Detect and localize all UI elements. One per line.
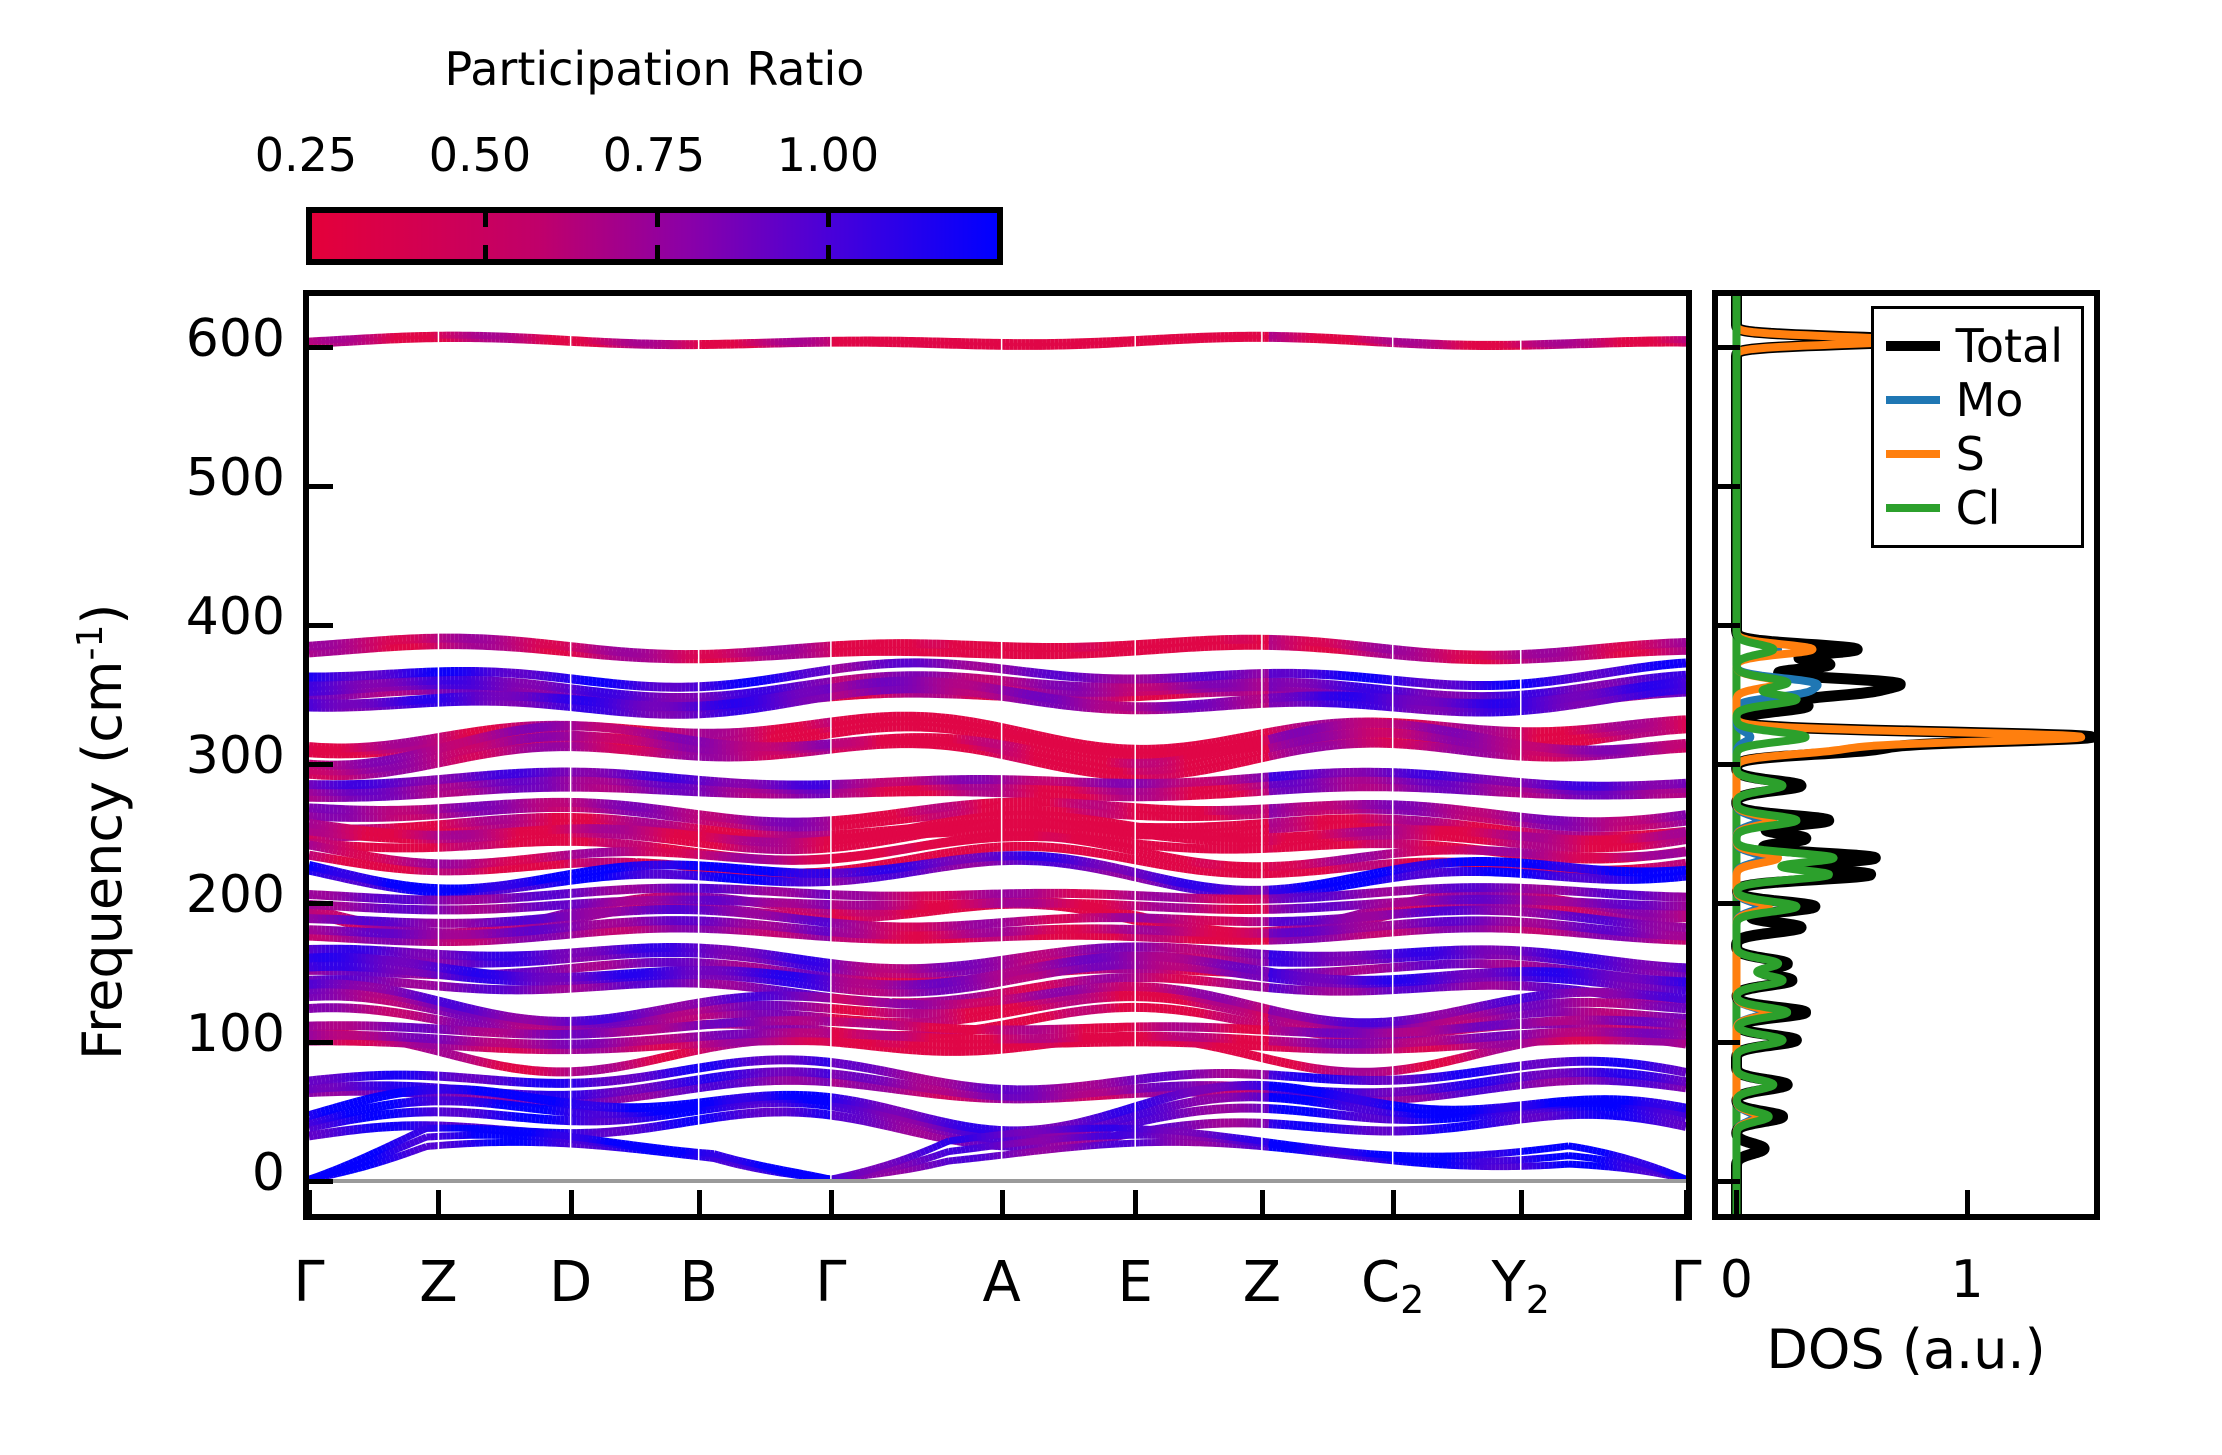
band-segment xyxy=(422,759,426,760)
band-segment xyxy=(463,750,467,751)
band-segment xyxy=(803,700,807,701)
band-segment xyxy=(803,685,807,686)
band-segment xyxy=(1565,698,1569,699)
band-segment xyxy=(783,741,787,742)
band-segment xyxy=(1556,706,1560,707)
band-segment xyxy=(402,743,406,744)
band-segment xyxy=(844,693,848,694)
band-segment xyxy=(989,694,993,695)
band-segment xyxy=(763,691,767,692)
band-segment xyxy=(1285,752,1289,753)
band-segment xyxy=(459,750,463,751)
band-segment xyxy=(576,689,580,690)
band-segment xyxy=(795,675,799,676)
band-segment xyxy=(1066,701,1070,702)
band-segment xyxy=(1593,740,1597,741)
band-segment xyxy=(1253,735,1257,736)
band-segment xyxy=(1625,681,1629,682)
band-segment xyxy=(1026,733,1030,734)
band-segment xyxy=(1577,704,1581,705)
band-segment xyxy=(1609,672,1613,673)
band-segment xyxy=(499,742,503,743)
band-segment xyxy=(378,767,382,768)
band-segment xyxy=(1617,697,1621,698)
band-segment xyxy=(1079,744,1083,745)
band-segment xyxy=(1196,745,1200,746)
band-segment xyxy=(1224,765,1228,766)
band-curves xyxy=(309,296,1686,1214)
band-segment xyxy=(1621,735,1625,736)
band-segment xyxy=(840,686,844,687)
band-segment xyxy=(1006,728,1010,729)
colorbar-tick-label-2: 0.75 xyxy=(564,128,744,182)
band-segment xyxy=(418,760,422,761)
band-segment xyxy=(844,725,848,726)
band-segment xyxy=(1633,695,1637,696)
band-segment xyxy=(965,721,969,722)
band-segment xyxy=(1281,753,1285,754)
band-segment xyxy=(969,731,973,732)
band-segment xyxy=(1605,732,1609,733)
band-segment xyxy=(1641,679,1645,680)
band-segment xyxy=(1265,732,1269,733)
band-segment xyxy=(815,724,819,725)
band-segment xyxy=(1022,699,1026,700)
band-segment xyxy=(977,723,981,724)
band-segment xyxy=(556,692,560,693)
band-segment xyxy=(1245,736,1249,737)
band-segment xyxy=(1091,767,1095,768)
band-segment xyxy=(1014,730,1018,731)
band-segment xyxy=(969,685,973,686)
band-segment xyxy=(1641,693,1645,694)
band-segment xyxy=(1613,691,1617,692)
band-segment xyxy=(1208,768,1212,769)
band-segment xyxy=(1601,732,1605,733)
band-segment xyxy=(394,765,398,766)
band-segment xyxy=(1569,697,1573,698)
band-segment xyxy=(1585,676,1589,677)
band-segment xyxy=(1313,747,1317,748)
colorbar-tick-top-1 xyxy=(655,213,660,227)
band-segment xyxy=(1006,691,1010,692)
colorbar-tick-bottom-0 xyxy=(483,245,488,259)
band-segment xyxy=(844,686,848,687)
band-segment xyxy=(479,754,483,755)
band-segment xyxy=(755,681,759,682)
band-structure-axes xyxy=(303,290,1692,1220)
band-segment xyxy=(410,762,414,763)
band-segment xyxy=(1577,696,1581,697)
band-segment xyxy=(819,671,823,672)
band-segment xyxy=(795,726,799,727)
band-segment xyxy=(763,707,767,708)
band-segment xyxy=(1034,696,1038,697)
band-segment xyxy=(1650,685,1654,686)
band-segment xyxy=(803,737,807,738)
band-segment xyxy=(1070,769,1074,770)
band-segment xyxy=(799,726,803,727)
band-segment xyxy=(799,700,803,701)
band-segment xyxy=(787,740,791,741)
y-axis-label-text: Frequency (cm xyxy=(71,661,134,1061)
band-segment xyxy=(455,751,459,752)
band-segment xyxy=(1257,758,1261,759)
band-segment xyxy=(811,698,815,699)
band-segment xyxy=(382,767,386,768)
band-segment xyxy=(819,735,823,736)
band-segment xyxy=(564,693,568,694)
band-segment xyxy=(1577,742,1581,743)
band-segment xyxy=(516,740,520,741)
band-segment xyxy=(953,719,957,720)
band-segment xyxy=(1625,696,1629,697)
band-segment xyxy=(431,764,435,765)
band-segment xyxy=(1621,670,1625,671)
band-segment xyxy=(1593,686,1597,687)
band-segment xyxy=(1273,754,1277,755)
band-segment xyxy=(799,693,803,694)
band-segment xyxy=(499,751,503,752)
band-segment xyxy=(775,689,779,690)
band-segment xyxy=(1010,697,1014,698)
band-segment xyxy=(1609,698,1613,699)
band-segment xyxy=(1192,771,1196,772)
band-segment xyxy=(1046,737,1050,738)
band-segment xyxy=(1633,668,1637,669)
band-segment xyxy=(831,733,835,734)
band-segment xyxy=(1322,746,1326,747)
band-segment xyxy=(1180,773,1184,774)
band-segment xyxy=(807,725,811,726)
band-segment xyxy=(1232,739,1236,740)
band-segment xyxy=(467,756,471,757)
band-segment xyxy=(803,673,807,674)
band-segment xyxy=(439,737,443,738)
band-segment xyxy=(1070,701,1074,702)
band-segment xyxy=(402,769,406,770)
band-segment xyxy=(981,733,985,734)
figure-canvas: Participation Ratio 0.25 0.50 0.75 1.00 … xyxy=(0,0,2222,1455)
band-segment xyxy=(1253,759,1257,760)
band-segment xyxy=(1293,750,1297,751)
band-segment xyxy=(1625,735,1629,736)
band-segment xyxy=(491,744,495,745)
band-segment xyxy=(1042,736,1046,737)
band-segment xyxy=(1577,677,1581,678)
band-segment xyxy=(1066,741,1070,742)
band-segment xyxy=(783,703,787,704)
band-segment xyxy=(787,687,791,688)
band-segment xyxy=(840,694,844,695)
band-segment xyxy=(431,738,435,739)
band-segment xyxy=(831,727,835,728)
band-segment xyxy=(406,742,410,743)
band-segment xyxy=(965,685,969,686)
band-segment xyxy=(459,734,463,735)
band-segment xyxy=(1641,686,1645,687)
band-segment xyxy=(831,669,835,670)
band-segment xyxy=(1216,747,1220,748)
band-segment xyxy=(1079,770,1083,771)
band-segment xyxy=(479,746,483,747)
band-segment xyxy=(803,692,807,693)
band-segment xyxy=(803,731,807,732)
band-segment xyxy=(1597,700,1601,701)
band-segment xyxy=(831,688,835,689)
band-segment xyxy=(1212,742,1216,743)
band-segment xyxy=(1605,672,1609,673)
colorbar-tick-top-2 xyxy=(826,213,831,227)
band-segment xyxy=(471,732,475,733)
colorbar-tick-label-0: 0.25 xyxy=(216,128,396,182)
band-segment xyxy=(1066,768,1070,769)
band-segment xyxy=(742,683,746,684)
band-segment xyxy=(1637,668,1641,669)
band-segment xyxy=(779,735,783,736)
band-segment xyxy=(1192,745,1196,746)
band-segment xyxy=(1030,756,1034,757)
band-segment xyxy=(661,744,665,745)
band-segment xyxy=(1560,706,1564,707)
band-segment xyxy=(1026,700,1030,701)
band-segment xyxy=(414,741,418,742)
band-segment xyxy=(479,731,483,732)
band-segment xyxy=(848,685,852,686)
band-segment xyxy=(1249,760,1253,761)
band-segment xyxy=(443,754,447,755)
band-segment xyxy=(775,697,779,698)
colorbar-tick-label-3: 1.00 xyxy=(738,128,918,182)
band-segment xyxy=(977,686,981,687)
band-segment xyxy=(402,763,406,764)
participation-ratio-colorbar xyxy=(306,207,1003,265)
band-segment xyxy=(811,672,815,673)
band-segment xyxy=(1589,675,1593,676)
band-segment xyxy=(1601,692,1605,693)
band-segment xyxy=(795,732,799,733)
band-segment xyxy=(1216,742,1220,743)
band-segment xyxy=(1613,683,1617,684)
band-segment xyxy=(775,705,779,706)
band-segment xyxy=(750,708,754,709)
band-segment xyxy=(455,734,459,735)
band-segment xyxy=(844,731,848,732)
band-segment xyxy=(1560,698,1564,699)
band-segment xyxy=(414,761,418,762)
band-segment xyxy=(795,686,799,687)
band-segment xyxy=(1285,729,1289,730)
band-segment xyxy=(836,681,840,682)
band-segment xyxy=(1601,685,1605,686)
band-segment xyxy=(418,766,422,767)
band-segment xyxy=(1277,730,1281,731)
band-segment xyxy=(1046,698,1050,699)
band-segment xyxy=(836,695,840,696)
band-segment xyxy=(836,726,840,727)
band-segment xyxy=(1633,680,1637,681)
band-segment xyxy=(572,689,576,690)
band-segment xyxy=(1585,702,1589,703)
band-segment xyxy=(1569,705,1573,706)
band-segment xyxy=(1605,692,1609,693)
band-segment xyxy=(795,694,799,695)
band-segment xyxy=(1042,758,1046,759)
band-segment xyxy=(1220,766,1224,767)
band-segment xyxy=(1617,682,1621,683)
band-segment xyxy=(1650,666,1654,667)
band-segment xyxy=(447,753,451,754)
band-segment xyxy=(1058,700,1062,701)
band-segment xyxy=(386,766,390,767)
band-segment xyxy=(1613,737,1617,738)
band-segment xyxy=(1062,700,1066,701)
band-segment xyxy=(755,700,759,701)
band-segment xyxy=(819,728,823,729)
band-segment xyxy=(759,700,763,701)
band-segment xyxy=(422,740,426,741)
band-segment xyxy=(1593,701,1597,702)
band-segment xyxy=(767,706,771,707)
band-segment xyxy=(742,702,746,703)
band-segment xyxy=(807,730,811,731)
band-segment xyxy=(1273,731,1277,732)
band-segment xyxy=(746,701,750,702)
band-segment xyxy=(779,696,783,697)
band-segment xyxy=(1050,698,1054,699)
band-segment xyxy=(961,730,965,731)
band-segment xyxy=(1565,679,1569,680)
band-segment xyxy=(815,690,819,691)
band-segment xyxy=(815,729,819,730)
band-segment xyxy=(1091,772,1095,773)
band-segment xyxy=(1038,701,1042,702)
band-segment xyxy=(398,743,402,744)
band-segment xyxy=(815,671,819,672)
band-segment xyxy=(1569,689,1573,690)
band-segment xyxy=(1228,764,1232,765)
band-segment xyxy=(1301,749,1305,750)
band-segment xyxy=(1621,689,1625,690)
band-segment xyxy=(783,677,787,678)
band-segment xyxy=(1010,751,1014,752)
band-segment xyxy=(759,691,763,692)
band-segment xyxy=(819,697,823,698)
colorbar-tick-label-1: 0.50 xyxy=(390,128,570,182)
band-segment xyxy=(426,739,430,740)
band-segment xyxy=(795,739,799,740)
band-segment xyxy=(463,757,467,758)
band-segment xyxy=(572,694,576,695)
band-segment xyxy=(815,735,819,736)
band-segment xyxy=(1058,767,1062,768)
band-segment xyxy=(1220,741,1224,742)
band-segment xyxy=(1091,746,1095,747)
band-segment xyxy=(1309,748,1313,749)
band-segment xyxy=(1633,688,1637,689)
band-segment xyxy=(641,742,645,743)
band-segment xyxy=(1228,739,1232,740)
band-segment xyxy=(665,745,669,746)
band-segment xyxy=(483,730,487,731)
band-segment xyxy=(823,670,827,671)
band-segment xyxy=(1297,750,1301,751)
band-segment xyxy=(787,703,791,704)
band-segment xyxy=(969,721,973,722)
band-segment xyxy=(957,730,961,731)
band-segment xyxy=(1265,756,1269,757)
y-tick-label-100: 100 xyxy=(55,1004,285,1064)
band-segment xyxy=(1241,737,1245,738)
band-segment xyxy=(1621,682,1625,683)
band-segment xyxy=(560,693,564,694)
band-segment xyxy=(1637,680,1641,681)
band-segment xyxy=(1070,742,1074,743)
band-segment xyxy=(451,735,455,736)
band-segment xyxy=(1087,772,1091,773)
band-segment xyxy=(451,752,455,753)
y-tick-label-200: 200 xyxy=(55,865,285,925)
band-segment xyxy=(787,727,791,728)
band-segment xyxy=(836,668,840,669)
band-segment xyxy=(414,767,418,768)
band-segment xyxy=(799,732,803,733)
band-segment xyxy=(1245,761,1249,762)
band-segment xyxy=(374,768,378,769)
band-segment xyxy=(1625,689,1629,690)
band-segment xyxy=(1605,738,1609,739)
band-segment xyxy=(763,699,767,700)
band-segment xyxy=(1200,770,1204,771)
band-segment xyxy=(823,722,827,723)
band-segment xyxy=(495,752,499,753)
band-segment xyxy=(763,737,767,738)
band-segment xyxy=(1232,763,1236,764)
band-segment xyxy=(1593,674,1597,675)
band-segment xyxy=(993,695,997,696)
band-segment xyxy=(1026,755,1030,756)
band-segment xyxy=(1079,765,1083,766)
band-segment xyxy=(1617,736,1621,737)
band-segment xyxy=(1054,766,1058,767)
band-segment xyxy=(1585,695,1589,696)
band-segment xyxy=(1054,761,1058,762)
band-segment xyxy=(426,765,430,766)
band-segment xyxy=(1224,740,1228,741)
band-segment xyxy=(1054,699,1058,700)
band-segment xyxy=(520,739,524,740)
band-segment xyxy=(1641,733,1645,734)
band-segment xyxy=(443,742,447,743)
band-segment xyxy=(1605,699,1609,700)
band-segment xyxy=(775,678,779,679)
band-segment xyxy=(815,683,819,684)
band-segment xyxy=(657,744,661,745)
band-segment xyxy=(1046,759,1050,760)
band-segment xyxy=(1074,770,1078,771)
band-segment xyxy=(491,752,495,753)
band-segment xyxy=(394,744,398,745)
band-segment xyxy=(742,709,746,710)
band-segment xyxy=(1014,752,1018,753)
band-segment xyxy=(993,689,997,690)
y-tick-label-0: 0 xyxy=(55,1143,285,1203)
band-segment xyxy=(1014,698,1018,699)
band-segment xyxy=(1018,693,1022,694)
band-segment xyxy=(418,740,422,741)
band-segment xyxy=(811,724,815,725)
band-segment xyxy=(1289,751,1293,752)
